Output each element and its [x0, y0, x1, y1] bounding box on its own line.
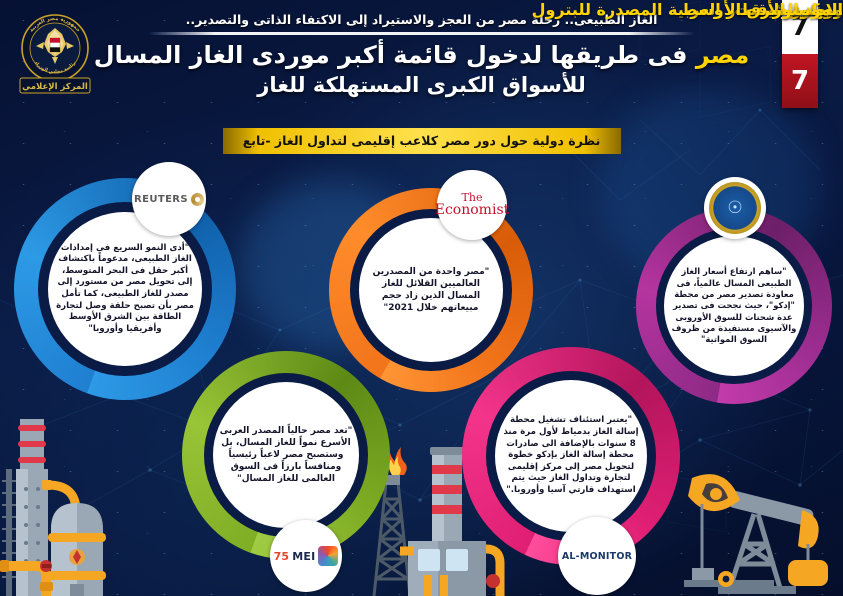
bubble-inner-economist: "مصر واحدة من المصدرين العالميين القلائل…: [359, 218, 503, 362]
mei-logo-badge: MEI 75: [270, 520, 342, 592]
title-line-1-rest: فى طريقها لدخول قائمة أكبر موردى الغاز ا…: [94, 41, 696, 69]
quote-text-oapec: "ساهم ارتفاع أسعار الغاز الطبيعى المسال …: [664, 262, 804, 349]
bubble-inner-mei: "تعد مصر حالياً المصدر العربى الأسرع نمو…: [213, 382, 359, 528]
flag-number-bottom: 7: [782, 54, 818, 108]
quote-text-mei: "تعد مصر حالياً المصدر العربى الأسرع نمو…: [213, 421, 359, 490]
subtitle-ribbon: نظرة دولية حول دور مصر كلاعب إقليمى لتدا…: [223, 128, 621, 154]
economist-logo: The Economist: [435, 192, 510, 217]
government-media-center-logo: جمهورية مصر العربية رئاسة مجلس الوزراء ا…: [14, 12, 96, 96]
refinery-tower-illustration: [0, 411, 176, 596]
oapec-logo: ☉: [709, 182, 761, 234]
title-highlight-word: مصر: [696, 41, 749, 69]
quote-bubble-almonitor[interactable]: "يعتبر استئناف تشغيل محطة إسالة الغاز بد…: [462, 347, 680, 565]
reuters-logo-badge: REUTERS: [132, 162, 206, 236]
economist-logo-text-2: Economist: [435, 203, 510, 217]
oapec-logo-badge: ☉: [704, 177, 766, 239]
bubble-inner-oapec: "ساهم ارتفاع أسعار الغاز الطبيعى المسال …: [664, 236, 804, 376]
header-divider: [149, 32, 694, 35]
quote-text-almonitor: "يعتبر استئناف تشغيل محطة إسالة الغاز بد…: [495, 411, 647, 500]
reuters-swirl-icon: [191, 193, 204, 206]
svg-text:المركز الإعلامي: المركز الإعلامي: [22, 82, 88, 92]
mei-logo: MEI 75: [274, 546, 339, 566]
mei-logo-anniversary: 75: [274, 550, 290, 563]
header: الغاز الطبيعى.. رحلة مصر من العجز والاست…: [0, 0, 843, 160]
economist-logo-badge: The Economist: [437, 170, 507, 240]
quote-text-economist: "مصر واحدة من المصدرين العالميين القلائل…: [359, 262, 503, 319]
mei-logo-text: MEI: [292, 550, 315, 563]
bubble-inner-almonitor: "يعتبر استئناف تشغيل محطة إسالة الغاز بد…: [495, 380, 647, 532]
gas-pipeline-illustration: [0, 526, 120, 596]
title-line-2: للأسواق الكبرى المستهلكة للغاز: [70, 72, 773, 99]
almonitor-logo-badge: AL-MONITOR: [558, 517, 636, 595]
quote-text-reuters: "أدى النمو السريع فى إمدادات الغاز الطبي…: [48, 239, 202, 340]
bubble-inner-reuters: "أدى النمو السريع فى إمدادات الغاز الطبي…: [48, 212, 202, 366]
page-title: مصر فى طريقها لدخول قائمة أكبر موردى الغ…: [0, 40, 843, 99]
source-label-almonitor: المونيتور: [772, 0, 843, 19]
reuters-logo-text: REUTERS: [134, 194, 188, 205]
almonitor-logo: AL-MONITOR: [562, 551, 632, 562]
title-line-1: مصر فى طريقها لدخول قائمة أكبر موردى الغ…: [70, 40, 773, 70]
oil-pumpjack-illustration: [662, 448, 837, 596]
reuters-logo: REUTERS: [134, 193, 204, 206]
mei-blob-icon: [318, 546, 338, 566]
infographic-canvas: الغاز الطبيعى.. رحلة مصر من العجز والاست…: [0, 0, 843, 596]
quote-bubble-mei[interactable]: "تعد مصر حالياً المصدر العربى الأسرع نمو…: [182, 351, 390, 559]
